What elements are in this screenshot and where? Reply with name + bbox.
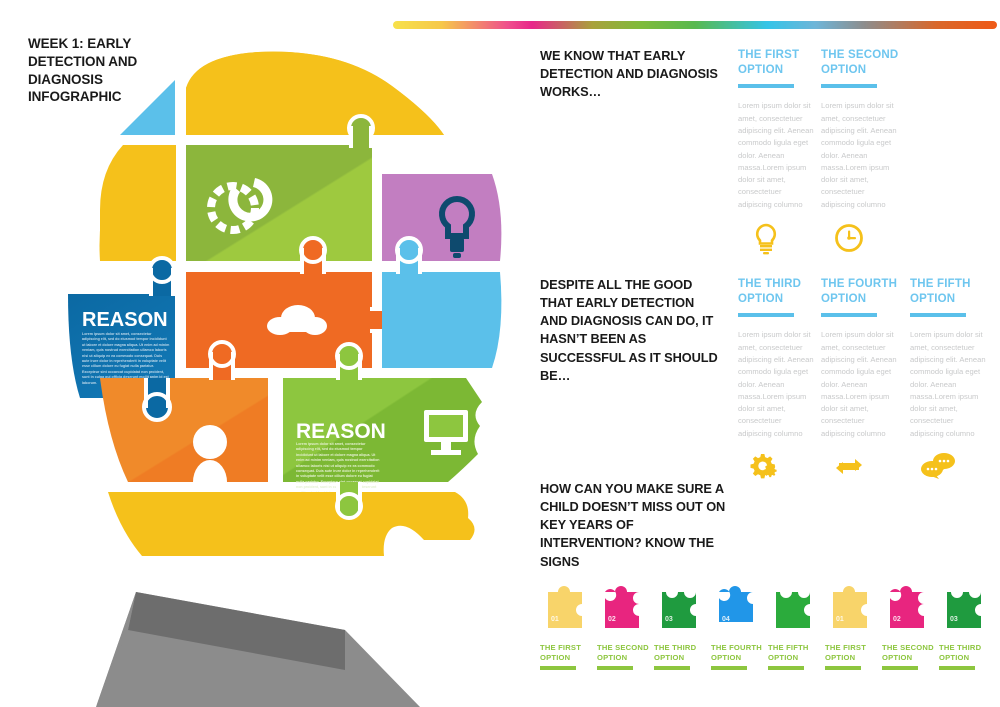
option-rule — [738, 84, 794, 88]
strip-piece-1[interactable]: 01 THE FIRST OPTION — [540, 578, 592, 670]
strip-piece-7[interactable]: 02 THE SECOND OPTION — [882, 578, 934, 670]
puzzle-head-illustration: REASON Lorem ipsum dolor sit amet, conse… — [0, 30, 540, 707]
puzzle-piece-icon — [597, 578, 649, 630]
strip-piece-label: THE FIFTH OPTION — [768, 643, 820, 662]
piece-cyan-triangle — [120, 80, 175, 135]
strip-piece-underline — [654, 666, 690, 670]
piece-cyan-right — [382, 272, 501, 368]
option-title: THE FIRST OPTION — [738, 48, 816, 78]
option-body: Lorem ipsum dolor sit amet, consectetuer… — [821, 100, 899, 211]
option-rule — [910, 313, 966, 317]
option-body: Lorem ipsum dolor sit amet, consectetuer… — [821, 329, 899, 440]
strip-piece-label: THE THIRD OPTION — [654, 643, 706, 662]
option-column-third: THE THIRD OPTION Lorem ipsum dolor sit a… — [738, 277, 816, 482]
strip-piece-label: THE FIRST OPTION — [540, 643, 592, 662]
piece-orange-person — [100, 378, 268, 482]
strip-piece-number: 03 — [950, 616, 958, 623]
option-column-fifth: THE FIFTH OPTION Lorem ipsum dolor sit a… — [910, 277, 988, 480]
piece-green-reason-title: REASON — [296, 420, 386, 443]
option-rule — [821, 84, 877, 88]
lightbulb-icon — [738, 223, 794, 255]
strip-piece-underline — [768, 666, 804, 670]
strip-piece-label: THE SECOND OPTION — [597, 643, 649, 662]
strip-piece-label: THE THIRD OPTION — [939, 643, 991, 662]
strip-piece-2[interactable]: 02 THE SECOND OPTION — [597, 578, 649, 670]
top-gradient-bar — [393, 21, 997, 29]
strip-piece-underline — [711, 666, 747, 670]
piece-top-yellow-fill — [186, 52, 444, 135]
strip-piece-5[interactable]: THE FIFTH OPTION — [768, 578, 820, 670]
option-rule — [738, 313, 794, 317]
option-body: Lorem ipsum dolor sit amet, consectetuer… — [738, 100, 816, 211]
option-column-second: THE SECOND OPTION Lorem ipsum dolor sit … — [821, 48, 899, 253]
strip-piece-label: THE FIRST OPTION — [825, 643, 877, 662]
strip-piece-number: 03 — [665, 616, 673, 623]
strip-piece-label: THE SECOND OPTION — [882, 643, 934, 662]
strip-piece-4[interactable]: 04 THE FOURTH OPTION — [711, 578, 763, 670]
puzzle-piece-icon — [711, 578, 763, 630]
puzzle-piece-icon — [540, 578, 592, 630]
option-rule — [821, 313, 877, 317]
gears-icon — [738, 452, 794, 482]
strip-piece-3[interactable]: 03 THE THIRD OPTION — [654, 578, 706, 670]
strip-piece-label: THE FOURTH OPTION — [711, 643, 763, 662]
strip-piece-number: 04 — [722, 616, 730, 623]
option-column-first: THE FIRST OPTION Lorem ipsum dolor sit a… — [738, 48, 816, 255]
puzzle-piece-icon — [825, 578, 877, 630]
strip-piece-number: 01 — [836, 616, 844, 623]
option-body: Lorem ipsum dolor sit amet, consectetuer… — [910, 329, 988, 440]
puzzle-piece-icon — [654, 578, 706, 630]
strip-piece-underline — [939, 666, 975, 670]
option-body: Lorem ipsum dolor sit amet, consectetuer… — [738, 329, 816, 440]
strip-piece-underline — [882, 666, 918, 670]
option-title: THE FIFTH OPTION — [910, 277, 988, 307]
option-title: THE SECOND OPTION — [821, 48, 899, 78]
puzzle-piece-icon — [768, 578, 820, 630]
strip-piece-underline — [597, 666, 633, 670]
strip-piece-underline — [825, 666, 861, 670]
piece-blue-reason-title: REASON — [82, 309, 168, 331]
strip-piece-number: 01 — [551, 616, 559, 623]
refresh-loop-icon — [821, 452, 877, 482]
strip-piece-number: 02 — [893, 616, 901, 623]
piece-jaw-yellow — [108, 492, 475, 556]
question-headline-1: WE KNOW THAT EARLY DETECTION AND DIAGNOS… — [540, 47, 720, 101]
strip-piece-8[interactable]: 03 THE THIRD OPTION — [939, 578, 991, 670]
puzzle-piece-icon — [882, 578, 934, 630]
clock-icon — [821, 223, 877, 253]
puzzle-piece-icon — [939, 578, 991, 630]
chat-bubbles-icon — [910, 452, 966, 480]
piece-blue-reason-body: Lorem ipsum dolor sit amet, consectetur … — [82, 332, 170, 386]
option-title: THE THIRD OPTION — [738, 277, 816, 307]
strip-piece-number: 02 — [608, 616, 616, 623]
bottom-puzzle-strip: 01 THE FIRST OPTION 02 THE SECOND OPTION… — [540, 578, 990, 678]
infographic-canvas: WEEK 1: EARLY DETECTION AND DIAGNOSIS IN… — [0, 0, 1000, 707]
person-icon — [193, 425, 227, 482]
strip-piece-underline — [540, 666, 576, 670]
option-column-fourth: THE FOURTH OPTION Lorem ipsum dolor sit … — [821, 277, 899, 482]
strip-piece-6[interactable]: 01 THE FIRST OPTION — [825, 578, 877, 670]
question-headline-3: HOW CAN YOU MAKE SURE A CHILD DOESN’T MI… — [540, 480, 730, 571]
question-headline-2: DESPITE ALL THE GOOD THAT EARLY DETECTIO… — [540, 276, 720, 385]
option-title: THE FOURTH OPTION — [821, 277, 899, 307]
